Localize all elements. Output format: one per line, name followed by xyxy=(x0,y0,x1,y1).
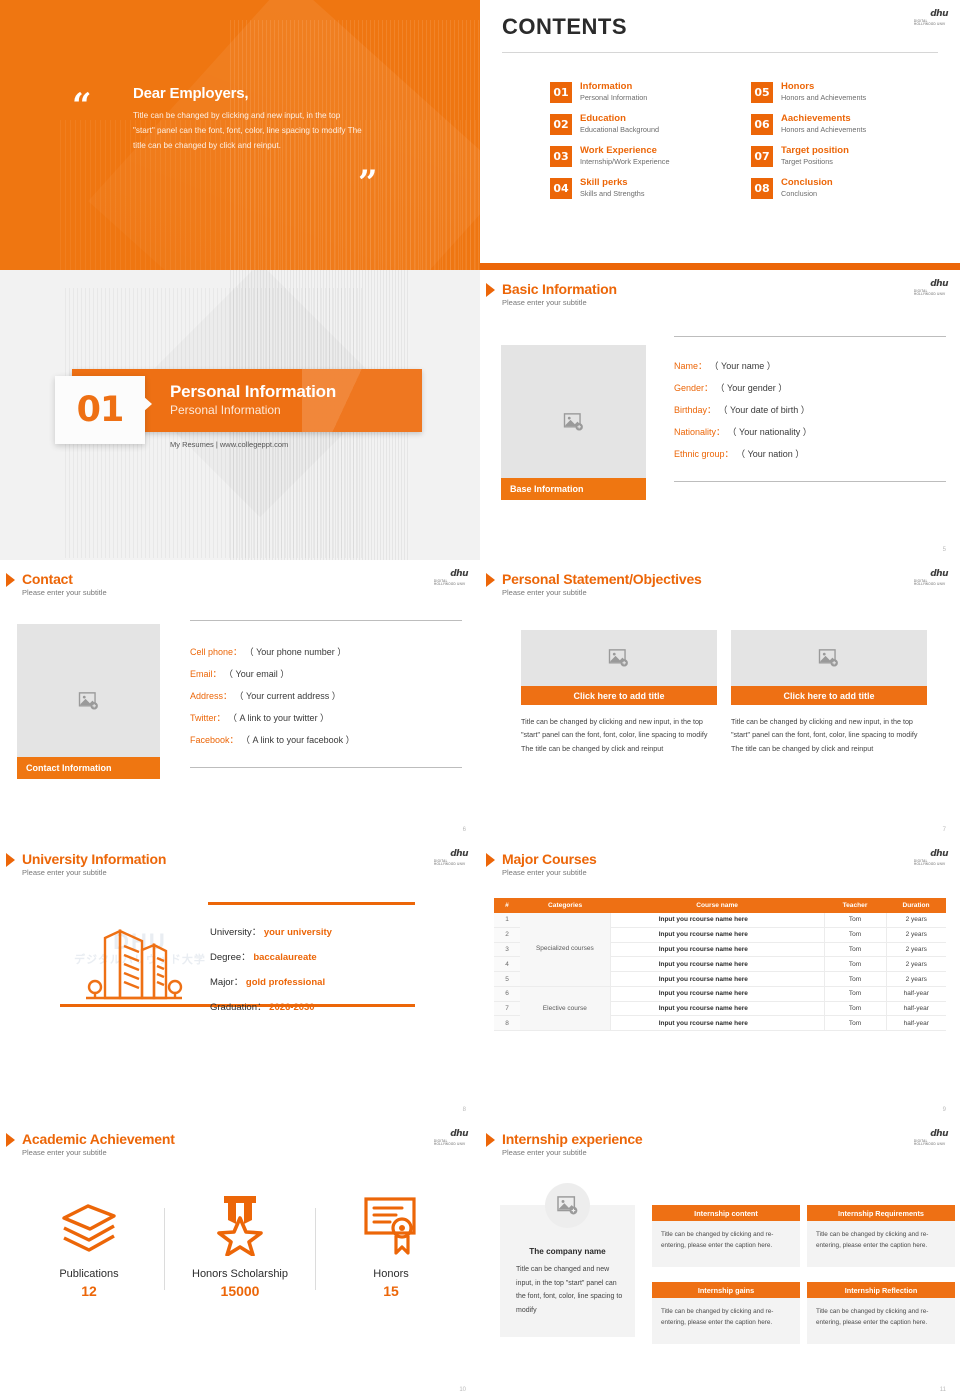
cell-course-name: Input you rcourse name here xyxy=(610,927,824,942)
field-row: Twitter： （ A link to your twitter ） xyxy=(190,707,462,729)
stat-block: Honors 15 xyxy=(316,1190,466,1299)
cell-duration: 2 years xyxy=(886,972,946,987)
contents-item-sub: Honors and Achievements xyxy=(781,94,866,102)
stat-label: Honors Scholarship xyxy=(165,1268,315,1280)
page-number: 5 xyxy=(943,547,946,553)
contents-items: 01 InformationPersonal Information 05 Ho… xyxy=(550,82,930,199)
cover-title: Dear Employers, xyxy=(133,85,363,102)
logo-wordmark: dhu xyxy=(930,570,948,579)
contents-item-sub: Educational Background xyxy=(580,126,659,134)
company-panel: The company name Title can be changed an… xyxy=(500,1205,635,1337)
basic-info-header: Basic Information Please enter your subt… xyxy=(491,281,617,307)
page-title: Contact xyxy=(22,571,107,587)
page-subtitle: Please enter your subtitle xyxy=(22,588,107,597)
image-placeholder[interactable] xyxy=(731,630,927,686)
brand-logo: dhu DIGITAL HOLLYWOOD UNIV xyxy=(914,280,948,296)
cover-text-block: Dear Employers, Title can be changed by … xyxy=(133,85,363,154)
contents-item-number: 02 xyxy=(550,114,572,135)
cell-course-name: Input you rcourse name here xyxy=(610,913,824,927)
header-triangle-icon xyxy=(6,573,15,587)
panel-top-rule xyxy=(208,902,415,905)
contents-item[interactable]: 02 EducationEducational Background xyxy=(550,114,729,135)
cell-duration: half-year xyxy=(886,986,946,1001)
contents-item[interactable]: 03 Work ExperienceInternship/Work Experi… xyxy=(550,146,729,167)
contents-item-label: Education xyxy=(580,114,659,125)
field-value[interactable]: （ Your nationality ） xyxy=(728,427,812,437)
statement-card: Click here to add title Title can be cha… xyxy=(521,630,717,755)
university-row: Graduation： 2026-2030 xyxy=(210,995,332,1020)
brand-logo: dhu DIGITAL HOLLYWOOD UNIV xyxy=(434,570,468,586)
contents-item-sub: Skills and Strengths xyxy=(580,190,645,198)
brand-logo: dhu DIGITAL HOLLYWOOD UNIV xyxy=(914,10,948,26)
photo-placeholder[interactable]: Base Information xyxy=(501,345,646,500)
brand-logo: dhu DIGITAL HOLLYWOOD UNIV xyxy=(914,850,948,866)
field-row: Nationality： （ Your nationality ） xyxy=(674,421,946,443)
field-value[interactable]: （ Your name ） xyxy=(710,361,776,371)
university-panel: DHU デジタルハリウッド大学 University： your univer xyxy=(60,902,415,1007)
card-title[interactable]: Internship gains xyxy=(652,1282,800,1298)
cell-index: 1 xyxy=(494,913,520,927)
stat-block: Publications 12 xyxy=(14,1190,164,1299)
contents-item[interactable]: 08 ConclusionConclusion xyxy=(751,178,930,199)
contents-item-label: Aachievements xyxy=(781,114,866,125)
field-value[interactable]: （ Your nation ） xyxy=(736,449,804,459)
logo-subtext: DIGITAL HOLLYWOOD UNIV xyxy=(434,1140,468,1147)
card-title[interactable]: Internship content xyxy=(652,1205,800,1221)
field-key: Address： xyxy=(190,691,232,701)
field-value[interactable]: （ Your phone number ） xyxy=(245,647,347,657)
field-bottom-rule xyxy=(190,767,462,768)
image-placeholder-icon xyxy=(608,649,630,668)
page-subtitle: Please enter your subtitle xyxy=(502,588,702,597)
university-row: University： your university xyxy=(210,920,332,945)
page-subtitle: Please enter your subtitle xyxy=(22,868,166,877)
field-value[interactable]: （ Your gender ） xyxy=(716,383,788,393)
cell-teacher: Tom xyxy=(824,972,886,987)
page-subtitle: Please enter your subtitle xyxy=(502,1148,643,1157)
cell-index: 4 xyxy=(494,957,520,972)
cell-duration: half-year xyxy=(886,1016,946,1031)
logo-wordmark: dhu xyxy=(930,280,948,289)
row-key: University： xyxy=(210,927,261,938)
field-value[interactable]: （ Your email ） xyxy=(224,669,289,679)
contents-item-number: 06 xyxy=(751,114,773,135)
field-key: Nationality： xyxy=(674,427,725,437)
contents-item-number: 01 xyxy=(550,82,572,103)
internship-header: Internship experience Please enter your … xyxy=(491,1131,643,1157)
page-subtitle: Please enter your subtitle xyxy=(502,298,617,307)
cell-teacher: Tom xyxy=(824,1016,886,1031)
table-header-row: # Categories Course name Teacher Duratio… xyxy=(494,898,946,913)
field-key: Gender： xyxy=(674,383,713,393)
contact-fields: Cell phone： （ Your phone number ） Email：… xyxy=(190,620,462,768)
cell-index: 6 xyxy=(494,986,520,1001)
page-number: 11 xyxy=(940,1387,946,1393)
contents-item-label: Work Experience xyxy=(580,146,670,157)
contents-item-number: 03 xyxy=(550,146,572,167)
divider-arrow-icon xyxy=(143,396,152,412)
cell-duration: 2 years xyxy=(886,913,946,927)
achievement-stats: Publications 12 Honors Scholarship 15000 xyxy=(14,1190,466,1299)
page-title: Internship experience xyxy=(502,1131,643,1147)
contents-item[interactable]: 07 Target positionTarget Positions xyxy=(751,146,930,167)
logo-subtext: DIGITAL HOLLYWOOD UNIV xyxy=(434,860,468,867)
contents-item-sub: Internship/Work Experience xyxy=(580,158,670,166)
logo-wordmark: dhu xyxy=(450,850,468,859)
contents-item-label: Skill perks xyxy=(580,178,645,189)
slide-contact: Contact Please enter your subtitle dhu D… xyxy=(0,560,480,840)
cell-teacher: Tom xyxy=(824,942,886,957)
field-key: Name： xyxy=(674,361,707,371)
slide-basic-information: Basic Information Please enter your subt… xyxy=(480,270,960,560)
cell-duration: 2 years xyxy=(886,927,946,942)
field-key: Cell phone： xyxy=(190,647,242,657)
field-value[interactable]: （ A link to your twitter ） xyxy=(228,713,329,723)
courses-header: Major Courses Please enter your subtitle xyxy=(491,851,597,877)
page-number: 9 xyxy=(943,1107,946,1113)
image-placeholder[interactable] xyxy=(545,1183,590,1228)
field-bottom-rule xyxy=(674,481,946,482)
field-key: Birthday： xyxy=(674,405,716,415)
page-subtitle: Please enter your subtitle xyxy=(502,868,597,877)
university-row: Major： gold professional xyxy=(210,970,332,995)
certificate-icon xyxy=(316,1190,466,1256)
cell-teacher: Tom xyxy=(824,1001,886,1016)
contents-item[interactable]: 04 Skill perksSkills and Strengths xyxy=(550,178,729,199)
cell-course-name: Input you rcourse name here xyxy=(610,1016,824,1031)
stat-block: Honors Scholarship 15000 xyxy=(165,1190,315,1299)
contents-item-label: Information xyxy=(580,82,647,93)
slide-university-information: University Information Please enter your… xyxy=(0,840,480,1120)
contact-header: Contact Please enter your subtitle xyxy=(11,571,107,597)
card-body: Title can be changed by clicking and re-… xyxy=(652,1298,800,1344)
stat-value: 15000 xyxy=(165,1283,315,1299)
building-icon xyxy=(82,914,186,1002)
cell-course-name: Input you rcourse name here xyxy=(610,972,824,987)
cell-duration: half-year xyxy=(886,1001,946,1016)
divider-number: 01 xyxy=(77,390,124,430)
slide-cover: “ Dear Employers, Title can be changed b… xyxy=(0,0,480,270)
card-body: Title can be changed by clicking and re-… xyxy=(652,1221,800,1267)
contents-item-number: 07 xyxy=(751,146,773,167)
logo-wordmark: dhu xyxy=(930,1130,948,1139)
page-title: Personal Statement/Objectives xyxy=(502,571,702,587)
page-subtitle: Please enter your subtitle xyxy=(22,1148,175,1157)
divider-number-box: 01 xyxy=(55,376,145,444)
logo-wordmark: dhu xyxy=(930,10,948,19)
column-header-teacher: Teacher xyxy=(824,898,886,913)
field-key: Email： xyxy=(190,669,222,679)
logo-subtext: DIGITAL HOLLYWOOD UNIV xyxy=(434,580,468,587)
header-triangle-icon xyxy=(486,283,495,297)
cell-duration: 2 years xyxy=(886,957,946,972)
row-key: Graduation： xyxy=(210,1002,267,1013)
statement-card: Click here to add title Title can be cha… xyxy=(731,630,927,755)
cell-index: 5 xyxy=(494,972,520,987)
row-value[interactable]: 2026-2030 xyxy=(269,1002,314,1013)
card-body: Title can be changed by clicking and re-… xyxy=(807,1298,955,1344)
image-placeholder-icon xyxy=(557,1196,579,1216)
card-title[interactable]: Internship Requirements xyxy=(807,1205,955,1221)
column-header-duration: Duration xyxy=(886,898,946,913)
card-body: Title can be changed by clicking and re-… xyxy=(807,1221,955,1267)
header-triangle-icon xyxy=(486,573,495,587)
logo-subtext: DIGITAL HOLLYWOOD UNIV xyxy=(914,290,948,297)
column-header-course: Course name xyxy=(610,898,824,913)
contents-divider-rule xyxy=(502,52,938,53)
page-number: 6 xyxy=(463,827,466,833)
page-title: University Information xyxy=(22,851,166,867)
contents-item-label: Honors xyxy=(781,82,866,93)
internship-card: Internship content Title can be changed … xyxy=(652,1205,800,1267)
page-title: Basic Information xyxy=(502,281,617,297)
header-triangle-icon xyxy=(486,853,495,867)
image-placeholder[interactable] xyxy=(521,630,717,686)
logo-subtext: DIGITAL HOLLYWOOD UNIV xyxy=(914,580,948,587)
image-placeholder-icon xyxy=(78,692,100,711)
cell-course-name: Input you rcourse name here xyxy=(610,957,824,972)
slide-academic-achievement: Academic Achievement Please enter your s… xyxy=(0,1120,480,1400)
page-title: Academic Achievement xyxy=(22,1131,175,1147)
photo-placeholder[interactable]: Contact Information xyxy=(17,624,160,779)
header-triangle-icon xyxy=(6,853,15,867)
contents-bottom-bar xyxy=(480,263,960,270)
slide-major-courses: Major Courses Please enter your subtitle… xyxy=(480,840,960,1120)
cell-category: Specialized courses xyxy=(520,913,610,986)
image-placeholder-icon xyxy=(563,413,585,432)
field-row: Email： （ Your email ） xyxy=(190,663,462,685)
cell-course-name: Input you rcourse name here xyxy=(610,986,824,1001)
row-key: Degree： xyxy=(210,952,251,963)
stat-value: 12 xyxy=(14,1283,164,1299)
card-body: Title can be changed by clicking and new… xyxy=(731,715,927,755)
row-value[interactable]: gold professional xyxy=(246,977,325,988)
company-body: Title can be changed and new input, in t… xyxy=(516,1263,623,1318)
contents-item-number: 04 xyxy=(550,178,572,199)
field-row: Cell phone： （ Your phone number ） xyxy=(190,641,462,663)
achievement-header: Academic Achievement Please enter your s… xyxy=(11,1131,175,1157)
field-row: Facebook： （ A link to your facebook ） xyxy=(190,729,462,751)
cell-category: Elective course xyxy=(520,986,610,1030)
cell-index: 8 xyxy=(494,1016,520,1031)
brand-logo: dhu DIGITAL HOLLYWOOD UNIV xyxy=(914,1130,948,1146)
contents-item-number: 08 xyxy=(751,178,773,199)
field-key: Facebook： xyxy=(190,735,239,745)
cell-index: 7 xyxy=(494,1001,520,1016)
slide-contents: CONTENTS dhu DIGITAL HOLLYWOOD UNIV 01 I… xyxy=(480,0,960,270)
quote-open-icon: “ xyxy=(72,86,92,126)
field-value[interactable]: （ A link to your facebook ） xyxy=(241,735,355,745)
basic-info-fields: Name： （ Your name ） Gender： （ Your gende… xyxy=(674,336,946,482)
logo-subtext: DIGITAL HOLLYWOOD UNIV xyxy=(914,860,948,867)
field-value[interactable]: （ Your current address ） xyxy=(235,691,341,701)
logo-wordmark: dhu xyxy=(930,850,948,859)
cell-course-name: Input you rcourse name here xyxy=(610,1001,824,1016)
cell-index: 2 xyxy=(494,927,520,942)
contents-item[interactable]: 01 InformationPersonal Information xyxy=(550,82,729,103)
contents-item[interactable]: 05 HonorsHonors and Achievements xyxy=(751,82,930,103)
row-key: Major： xyxy=(210,977,243,988)
quote-close-icon: ” xyxy=(358,163,378,203)
page-number: 10 xyxy=(459,1387,466,1393)
divider-footer: My Resumes | www.collegeppt.com xyxy=(170,440,288,449)
contents-item[interactable]: 06 AachievementsHonors and Achievements xyxy=(751,114,930,135)
company-name: The company name xyxy=(500,1247,635,1256)
slide-deck-grid: “ Dear Employers, Title can be changed b… xyxy=(0,0,960,1400)
field-row: Gender： （ Your gender ） xyxy=(674,377,946,399)
university-rows: University： your university Degree： bacc… xyxy=(210,920,332,1020)
cell-course-name: Input you rcourse name here xyxy=(610,942,824,957)
contents-item-sub: Conclusion xyxy=(781,190,833,198)
field-row: Address： （ Your current address ） xyxy=(190,685,462,707)
logo-subtext: DIGITAL HOLLYWOOD UNIV xyxy=(914,1140,948,1147)
contents-item-label: Conclusion xyxy=(781,178,833,189)
contents-item-number: 05 xyxy=(751,82,773,103)
stat-value: 15 xyxy=(316,1283,466,1299)
page-number: 8 xyxy=(463,1107,466,1113)
stat-label: Publications xyxy=(14,1268,164,1280)
slide-section-divider: 01 Personal Information Personal Informa… xyxy=(0,270,480,560)
contents-item-sub: Honors and Achievements xyxy=(781,126,866,134)
university-row: Degree： baccalaureate xyxy=(210,945,332,970)
divider-title: Personal Information xyxy=(170,382,336,402)
cell-teacher: Tom xyxy=(824,913,886,927)
field-row: Ethnic group： （ Your nation ） xyxy=(674,443,946,465)
header-triangle-icon xyxy=(486,1133,495,1147)
field-key: Ethnic group： xyxy=(674,449,734,459)
internship-card: Internship Requirements Title can be cha… xyxy=(807,1205,955,1267)
cell-duration: 2 years xyxy=(886,942,946,957)
brand-logo: dhu DIGITAL HOLLYWOOD UNIV xyxy=(914,570,948,586)
photo-caption: Contact Information xyxy=(17,757,160,779)
column-header-category: Categories xyxy=(520,898,610,913)
row-value[interactable]: baccalaureate xyxy=(253,952,316,963)
brand-logo: dhu DIGITAL HOLLYWOOD UNIV xyxy=(434,850,468,866)
contents-item-sub: Personal Information xyxy=(580,94,647,102)
statement-header: Personal Statement/Objectives Please ent… xyxy=(491,571,702,597)
courses-table: # Categories Course name Teacher Duratio… xyxy=(494,898,946,1031)
logo-subtext: DIGITAL HOLLYWOOD UNIV xyxy=(914,20,948,27)
card-caption-button[interactable]: Click here to add title xyxy=(521,686,717,705)
logo-wordmark: dhu xyxy=(450,570,468,579)
table-row[interactable]: 6 Elective course Input you rcourse name… xyxy=(494,986,946,1001)
field-value[interactable]: （ Your date of birth ） xyxy=(719,405,810,415)
image-placeholder-icon xyxy=(818,649,840,668)
header-triangle-icon xyxy=(6,1133,15,1147)
cell-index: 3 xyxy=(494,942,520,957)
field-row: Birthday： （ Your date of birth ） xyxy=(674,399,946,421)
contents-item-label: Target position xyxy=(781,146,849,157)
column-header-index: # xyxy=(494,898,520,913)
contents-item-sub: Target Positions xyxy=(781,158,849,166)
divider-subtitle: Personal Information xyxy=(170,403,281,417)
books-icon xyxy=(14,1190,164,1256)
stat-label: Honors xyxy=(316,1268,466,1280)
cell-teacher: Tom xyxy=(824,957,886,972)
contents-title: CONTENTS xyxy=(502,14,627,40)
page-title: Major Courses xyxy=(502,851,597,867)
card-caption-button[interactable]: Click here to add title xyxy=(731,686,927,705)
table-row[interactable]: 1 Specialized courses Input you rcourse … xyxy=(494,913,946,927)
cell-teacher: Tom xyxy=(824,986,886,1001)
brand-logo: dhu DIGITAL HOLLYWOOD UNIV xyxy=(434,1130,468,1146)
cover-body: Title can be changed by clicking and new… xyxy=(133,108,363,154)
photo-caption: Base Information xyxy=(501,478,646,500)
page-number: 7 xyxy=(943,827,946,833)
slide-internship-experience: Internship experience Please enter your … xyxy=(480,1120,960,1400)
university-header: University Information Please enter your… xyxy=(11,851,166,877)
cell-teacher: Tom xyxy=(824,927,886,942)
card-body: Title can be changed by clicking and new… xyxy=(521,715,717,755)
field-key: Twitter： xyxy=(190,713,226,723)
slide-personal-statement: Personal Statement/Objectives Please ent… xyxy=(480,560,960,840)
internship-card: Internship gains Title can be changed by… xyxy=(652,1282,800,1344)
internship-card: Internship Reflection Title can be chang… xyxy=(807,1282,955,1344)
logo-wordmark: dhu xyxy=(450,1130,468,1139)
card-title[interactable]: Internship Reflection xyxy=(807,1282,955,1298)
field-row: Name： （ Your name ） xyxy=(674,355,946,377)
medal-icon xyxy=(165,1190,315,1256)
row-value[interactable]: your university xyxy=(264,927,332,938)
